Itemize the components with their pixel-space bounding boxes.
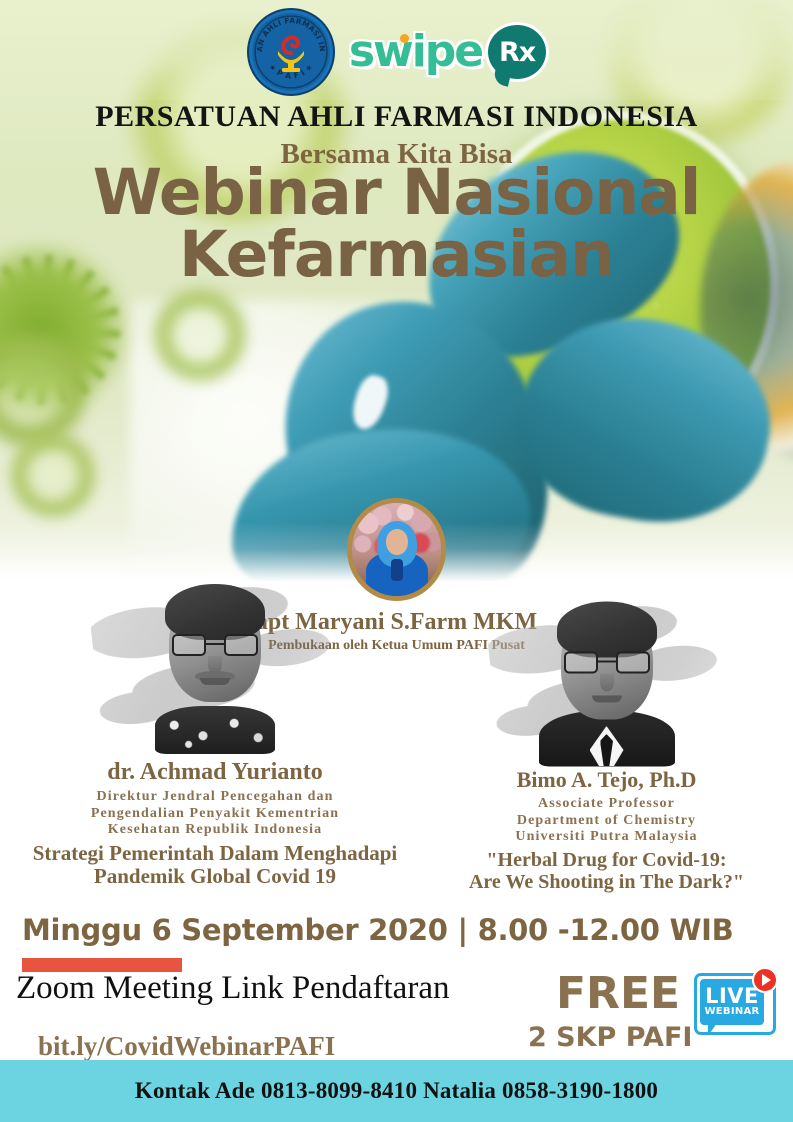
portrait-mouth: [592, 695, 622, 702]
speaker-left-topic: Strategi Pemerintah Dalam Menghadapi Pan…: [0, 842, 430, 888]
rx-label: Rx: [499, 39, 535, 66]
speaker-right-photo: [492, 590, 722, 765]
pafi-logo: PERSATUAN AHLI FARMASI INDONESIA ★ P A F…: [247, 8, 335, 96]
speaker-left-name: dr. Achmad Yurianto: [0, 759, 430, 786]
speaker-left-topic-line1: Strategi Pemerintah Dalam Menghadapi: [0, 842, 430, 865]
glasses-bridge: [206, 643, 224, 646]
glasses-lens-left: [172, 634, 206, 656]
speaker-right-name: Bimo A. Tejo, Ph.D: [420, 767, 793, 793]
batik-shirt: [155, 706, 275, 754]
portrait-mouth: [200, 678, 230, 685]
speaker-right-topic: "Herbal Drug for Covid-19: Are We Shooti…: [420, 849, 793, 893]
swiperx-logo: swipe Rx: [349, 25, 546, 79]
glasses-bridge: [598, 660, 616, 663]
speaker-left-topic-line2: Pandemik Global Covid 19: [0, 865, 430, 888]
speaker-right-portrait: [537, 595, 677, 760]
speaker-right-topic-line1: "Herbal Drug for Covid-19:: [420, 849, 793, 871]
price-label: FREE: [556, 968, 680, 1019]
page-title: Webinar Nasional Kefarmasian: [0, 162, 793, 285]
glasses-icon: [564, 651, 650, 673]
speaker-right: Bimo A. Tejo, Ph.D Associate Professor D…: [420, 590, 793, 893]
rx-speech-bubble-icon: Rx: [488, 25, 546, 79]
swipe-wordmark-text: swipe: [349, 26, 482, 77]
glasses-lens-right: [616, 651, 650, 673]
glasses-lens-right: [224, 634, 258, 656]
badge-webinar-label: WEBINAR: [704, 1007, 759, 1017]
portrait-hair: [557, 601, 657, 657]
avatar-collar: [391, 559, 403, 581]
glasses-icon: [172, 634, 258, 656]
main-title-line2: Kefarmasian: [0, 224, 793, 286]
portrait-nose: [600, 673, 614, 691]
speaker-right-topic-line2: Are We Shooting in The Dark?": [420, 871, 793, 893]
virus-particle-icon: [150, 285, 250, 385]
swipe-wordmark: swipe: [349, 30, 482, 74]
contact-footer: Kontak Ade 0813-8099-8410 Natalia 0858-3…: [0, 1060, 793, 1122]
event-datetime: Minggu 6 September 2020 | 8.00 -12.00 WI…: [22, 913, 733, 947]
avatar-face: [386, 529, 408, 555]
registration-link[interactable]: bit.ly/CovidWebinarPAFI: [38, 1031, 335, 1062]
speaker-left-portrait: [140, 578, 290, 748]
credits-label: 2 SKP PAFI: [528, 1022, 692, 1053]
event-platform-line: Zoom Meeting Link Pendaftaran: [16, 970, 449, 1007]
speaker-left-affiliation: Direktur Jendral Pencegahan dan Pengenda…: [0, 789, 430, 839]
live-webinar-badge: LIVE WEBINAR: [694, 971, 776, 1041]
bowl-of-hygieia-icon: [270, 29, 312, 75]
contact-text: Kontak Ade 0813-8099-8410 Natalia 0858-3…: [135, 1078, 658, 1104]
swipe-dot-icon: [400, 34, 409, 43]
header-logos: PERSATUAN AHLI FARMASI INDONESIA ★ P A F…: [0, 8, 793, 96]
organization-title: PERSATUAN AHLI FARMASI INDONESIA: [0, 100, 793, 134]
badge-live-label: LIVE: [705, 987, 759, 1007]
webinar-poster: PERSATUAN AHLI FARMASI INDONESIA ★ P A F…: [0, 0, 793, 1122]
play-button-icon: [752, 967, 778, 993]
speaker-right-affiliation: Associate Professor Department of Chemis…: [420, 796, 793, 846]
glasses-lens-left: [564, 651, 598, 673]
speaker-left-photo: [95, 570, 335, 755]
portrait-hair: [165, 584, 265, 640]
speaker-left: dr. Achmad Yurianto Direktur Jendral Pen…: [0, 580, 430, 888]
